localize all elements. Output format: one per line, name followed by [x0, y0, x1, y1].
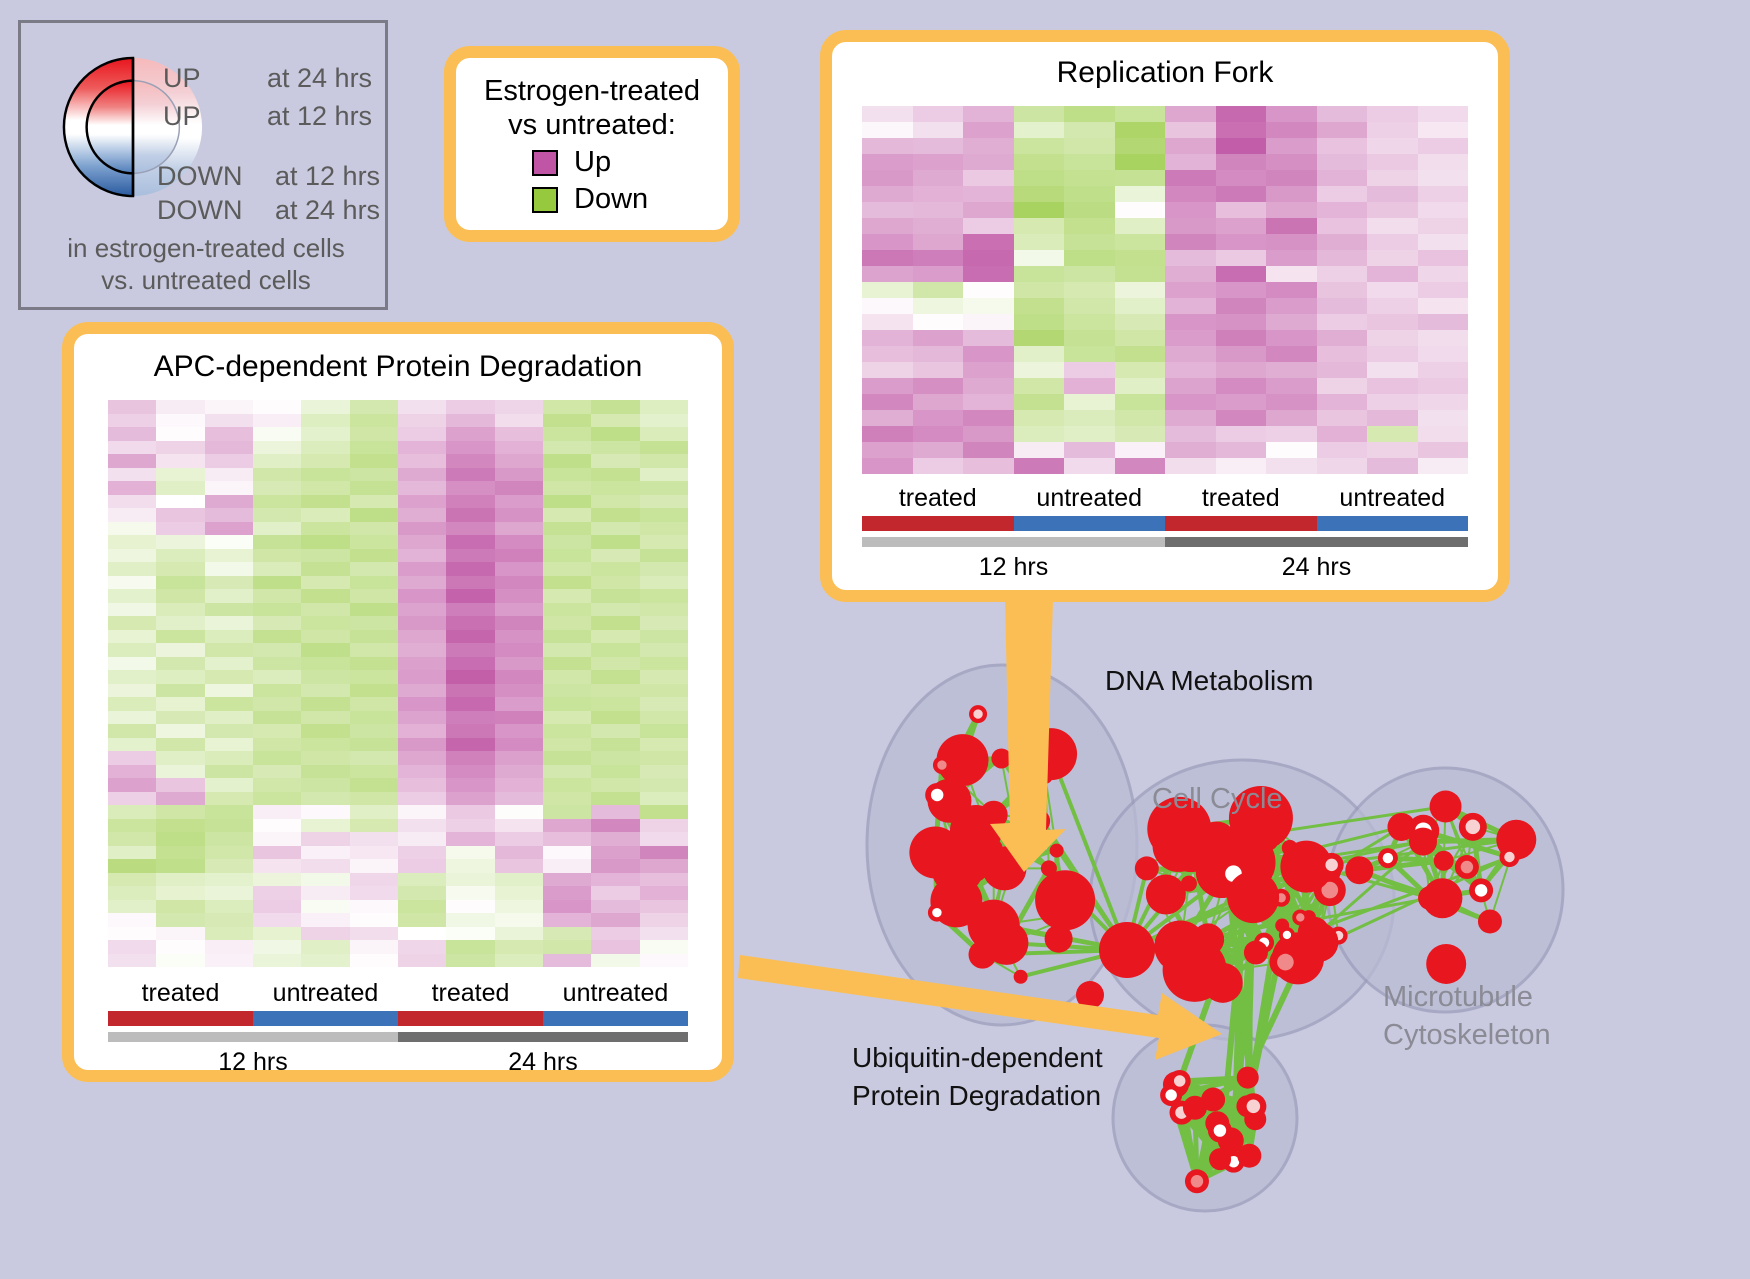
heatmap-cell	[1418, 218, 1469, 234]
heatmap-cell	[591, 468, 639, 482]
heatmap-cell	[495, 414, 543, 428]
heatmap-cell	[913, 426, 964, 442]
heatmap-cell	[1216, 298, 1267, 314]
heatmap-cell	[1165, 186, 1216, 202]
heatmap-cell	[1064, 234, 1115, 250]
heatmap-cell	[862, 442, 913, 458]
heatmap-cell	[862, 298, 913, 314]
heatmap-cell	[108, 846, 156, 860]
heatmap-cell	[446, 886, 494, 900]
heatmap-cell	[205, 954, 253, 968]
heatmap-cell	[253, 792, 301, 806]
heatmap-cell	[398, 940, 446, 954]
heatmap-cell	[1165, 314, 1216, 330]
heatmap-cell	[205, 684, 253, 698]
heatmap-cell	[862, 330, 913, 346]
network-node[interactable]	[1237, 1144, 1261, 1168]
heatmap-cell	[543, 495, 591, 509]
heatmap-cell	[1418, 250, 1469, 266]
heatmap-cell	[495, 724, 543, 738]
heatmap-cell	[1418, 234, 1469, 250]
heatmap-cell	[1064, 394, 1115, 410]
legend-item-down: Down	[532, 183, 728, 216]
heatmap-cell	[1014, 442, 1065, 458]
heatmap-cell	[350, 846, 398, 860]
rep-bar-untreated-24	[1317, 516, 1469, 531]
heatmap-cell	[1367, 138, 1418, 154]
heatmap-cell	[1266, 362, 1317, 378]
heatmap-cell	[398, 697, 446, 711]
heatmap-cell	[350, 900, 398, 914]
heatmap-cell	[543, 765, 591, 779]
heatmap-cell	[1115, 426, 1166, 442]
heatmap-cell	[1115, 298, 1166, 314]
heatmap-cell	[108, 508, 156, 522]
network-node[interactable]	[1203, 963, 1243, 1003]
heatmap-cell	[1064, 282, 1115, 298]
heatmap-cell	[495, 535, 543, 549]
heatmap-cell	[446, 738, 494, 752]
heatmap-cell	[350, 414, 398, 428]
heatmap-cell	[1064, 250, 1115, 266]
heatmap-cell	[862, 202, 913, 218]
heatmap-cell	[591, 616, 639, 630]
heatmap-cell	[446, 427, 494, 441]
heatmap-cell	[1115, 346, 1166, 362]
heatmap-cell	[1367, 346, 1418, 362]
heatmap-cell	[591, 576, 639, 590]
heatmap-cell	[640, 954, 688, 968]
heatmap-cell	[205, 603, 253, 617]
heatmap-cell	[301, 751, 349, 765]
heatmap-cell	[1367, 202, 1418, 218]
heatmap-cell	[1216, 314, 1267, 330]
heatmap-cell	[205, 765, 253, 779]
expression-color-key-box: UP at 24 hrs UP at 12 hrs DOWN at 12 hrs…	[18, 20, 388, 310]
heatmap-cell	[1266, 186, 1317, 202]
heatmap-cell	[1216, 218, 1267, 234]
network-node[interactable]	[1035, 870, 1095, 930]
heatmap-cell	[253, 670, 301, 684]
heatmap-cell	[205, 400, 253, 414]
heatmap-cell	[398, 508, 446, 522]
heatmap-cell	[253, 576, 301, 590]
heatmap-cell	[301, 441, 349, 455]
heatmap-cell	[495, 873, 543, 887]
heatmap-cell	[963, 314, 1014, 330]
legend-title: Estrogen-treated vs untreated:	[456, 74, 728, 142]
network-node[interactable]	[991, 748, 1011, 768]
heatmap-cell	[543, 576, 591, 590]
heatmap-cell	[446, 751, 494, 765]
heatmap-cell	[1418, 362, 1469, 378]
heatmap-cell	[913, 106, 964, 122]
heatmap-cell	[1216, 122, 1267, 138]
heatmap-cell	[963, 378, 1014, 394]
heatmap-cell	[1367, 330, 1418, 346]
heatmap-cell	[350, 913, 398, 927]
heatmap-cell	[301, 549, 349, 563]
network-node[interactable]	[1345, 856, 1373, 884]
heatmap-cell	[398, 589, 446, 603]
heatmap-cell	[108, 576, 156, 590]
heatmap-cell	[253, 589, 301, 603]
heatmap-cell	[1014, 426, 1065, 442]
heatmap-cell	[1317, 138, 1368, 154]
heatmap-cell	[495, 711, 543, 725]
heatmap-cell	[108, 549, 156, 563]
heatmap-cell	[591, 859, 639, 873]
heatmap-cell	[1216, 410, 1267, 426]
heatmap-cell	[1266, 250, 1317, 266]
heatmap-cell	[1064, 362, 1115, 378]
heatmap-cell	[543, 562, 591, 576]
network-node-core	[1277, 954, 1294, 971]
heatmap-cell	[350, 643, 398, 657]
heatmap-cell	[156, 832, 204, 846]
legend-title-line2: vs untreated:	[456, 108, 728, 142]
heatmap-cell	[205, 886, 253, 900]
heatmap-cell	[253, 738, 301, 752]
heatmap-cell	[1418, 378, 1469, 394]
heatmap-cell	[446, 589, 494, 603]
heatmap-cell	[108, 427, 156, 441]
heatmap-cell	[301, 792, 349, 806]
heatmap-cell	[1165, 378, 1216, 394]
heatmap-cell	[963, 362, 1014, 378]
apc-bar-12hrs	[108, 1032, 398, 1042]
heatmap-cell	[1266, 138, 1317, 154]
heatmap-cell	[913, 378, 964, 394]
heatmap-cell	[301, 427, 349, 441]
network-node[interactable]	[1037, 768, 1053, 784]
heatmap-cell	[446, 697, 494, 711]
network-node-core	[1466, 820, 1481, 835]
heatmap-cell	[543, 832, 591, 846]
heatmap-cell	[1266, 298, 1317, 314]
heatmap-cell	[253, 900, 301, 914]
network-node-core	[973, 709, 982, 718]
replication-fork-title: Replication Fork	[862, 56, 1468, 90]
heatmap-cell	[1064, 378, 1115, 394]
heatmap-cell	[495, 441, 543, 455]
heatmap-cell	[913, 346, 964, 362]
network-node[interactable]	[1227, 871, 1279, 923]
heatmap-cell	[543, 873, 591, 887]
heatmap-cell	[156, 495, 204, 509]
heatmap-cell	[350, 522, 398, 536]
heatmap-cell	[1266, 394, 1317, 410]
heatmap-cell	[446, 819, 494, 833]
network-node[interactable]	[1045, 925, 1073, 953]
heatmap-cell	[640, 792, 688, 806]
heatmap-cell	[591, 657, 639, 671]
network-node[interactable]	[1153, 820, 1205, 872]
heatmap-cell	[301, 589, 349, 603]
network-node[interactable]	[1426, 944, 1466, 984]
heatmap-cell	[1266, 122, 1317, 138]
heatmap-cell	[543, 481, 591, 495]
heatmap-cell	[862, 458, 913, 474]
heatmap-cell	[640, 819, 688, 833]
heatmap-cell	[350, 778, 398, 792]
heatmap-cell	[301, 819, 349, 833]
heatmap-cell	[591, 495, 639, 509]
heatmap-cell	[350, 468, 398, 482]
heatmap-cell	[446, 711, 494, 725]
heatmap-cell	[963, 154, 1014, 170]
heatmap-cell	[350, 454, 398, 468]
heatmap-cell	[1064, 106, 1115, 122]
key-row-3-state: DOWN	[157, 195, 242, 226]
heatmap-cell	[1115, 362, 1166, 378]
apc-degradation-title: APC-dependent Protein Degradation	[108, 350, 688, 384]
network-node[interactable]	[1434, 851, 1454, 871]
network-node[interactable]	[1183, 1096, 1207, 1120]
heatmap-cell	[108, 900, 156, 914]
updown-legend-panel: Estrogen-treated vs untreated: Up Down	[444, 46, 740, 242]
heatmap-cell	[543, 697, 591, 711]
heatmap-cell	[1014, 154, 1065, 170]
heatmap-cell	[156, 819, 204, 833]
heatmap-cell	[398, 832, 446, 846]
heatmap-cell	[398, 927, 446, 941]
heatmap-cell	[350, 792, 398, 806]
heatmap-cell	[205, 697, 253, 711]
heatmap-cell	[1216, 442, 1267, 458]
heatmap-cell	[640, 441, 688, 455]
heatmap-cell	[495, 576, 543, 590]
heatmap-cell	[963, 250, 1014, 266]
heatmap-cell	[591, 927, 639, 941]
heatmap-cell	[301, 954, 349, 968]
network-node[interactable]	[1422, 878, 1462, 918]
heatmap-cell	[913, 410, 964, 426]
heatmap-cell	[301, 630, 349, 644]
legend-title-line1: Estrogen-treated	[456, 74, 728, 108]
heatmap-cell	[640, 684, 688, 698]
key-row-2-state: DOWN	[157, 161, 242, 192]
heatmap-cell	[1317, 330, 1368, 346]
heatmap-cell	[446, 468, 494, 482]
heatmap-cell	[108, 792, 156, 806]
heatmap-cell	[1418, 122, 1469, 138]
heatmap-cell	[1014, 266, 1065, 282]
heatmap-cell	[156, 684, 204, 698]
heatmap-cell	[1266, 106, 1317, 122]
heatmap-cell	[398, 535, 446, 549]
heatmap-cell	[862, 426, 913, 442]
heatmap-cell	[862, 346, 913, 362]
heatmap-cell	[543, 846, 591, 860]
heatmap-cell	[591, 832, 639, 846]
heatmap-cell	[1216, 186, 1267, 202]
network-node[interactable]	[1298, 922, 1338, 962]
network-node-core	[937, 760, 946, 769]
heatmap-cell	[1216, 458, 1267, 474]
heatmap-cell	[1115, 170, 1166, 186]
heatmap-cell	[1014, 394, 1065, 410]
network-node[interactable]	[1430, 790, 1462, 822]
heatmap-cell	[156, 414, 204, 428]
network-node[interactable]	[1146, 874, 1186, 914]
heatmap-cell	[543, 913, 591, 927]
network-node-core	[1214, 1124, 1226, 1136]
heatmap-cell	[1216, 170, 1267, 186]
heatmap-cell	[253, 616, 301, 630]
heatmap-cell	[495, 670, 543, 684]
heatmap-cell	[963, 202, 1014, 218]
network-node[interactable]	[1014, 970, 1028, 984]
heatmap-cell	[156, 954, 204, 968]
heatmap-cell	[1014, 282, 1065, 298]
heatmap-cell	[862, 410, 913, 426]
heatmap-cell	[1115, 154, 1166, 170]
network-node[interactable]	[1387, 813, 1415, 841]
heatmap-cell	[301, 684, 349, 698]
heatmap-cell	[963, 458, 1014, 474]
heatmap-cell	[1317, 122, 1368, 138]
heatmap-cell	[253, 805, 301, 819]
heatmap-cell	[253, 535, 301, 549]
heatmap-cell	[1266, 170, 1317, 186]
heatmap-cell	[398, 603, 446, 617]
heatmap-cell	[1418, 314, 1469, 330]
heatmap-cell	[1266, 330, 1317, 346]
apc-bar-untreated-12	[253, 1011, 398, 1026]
heatmap-cell	[1367, 250, 1418, 266]
heatmap-cell	[446, 630, 494, 644]
heatmap-cell	[1216, 234, 1267, 250]
heatmap-cell	[1266, 378, 1317, 394]
heatmap-cell	[1418, 330, 1469, 346]
heatmap-cell	[640, 400, 688, 414]
heatmap-cell	[495, 427, 543, 441]
heatmap-cell	[640, 805, 688, 819]
rep-time-bar	[862, 537, 1468, 547]
heatmap-cell	[963, 330, 1014, 346]
heatmap-cell	[495, 940, 543, 954]
heatmap-cell	[108, 927, 156, 941]
heatmap-cell	[591, 765, 639, 779]
heatmap-cell	[591, 886, 639, 900]
heatmap-cell	[1266, 202, 1317, 218]
heatmap-cell	[543, 859, 591, 873]
heatmap-cell	[543, 778, 591, 792]
heatmap-cell	[1317, 394, 1368, 410]
heatmap-cell	[1165, 426, 1216, 442]
heatmap-cell	[591, 751, 639, 765]
heatmap-cell	[398, 643, 446, 657]
heatmap-cell	[1014, 378, 1065, 394]
network-node[interactable]	[1050, 844, 1064, 858]
heatmap-cell	[1014, 314, 1065, 330]
heatmap-cell	[862, 138, 913, 154]
heatmap-cell	[640, 454, 688, 468]
network-node[interactable]	[1041, 860, 1057, 876]
heatmap-cell	[253, 927, 301, 941]
heatmap-cell	[205, 576, 253, 590]
heatmap-cell	[495, 657, 543, 671]
heatmap-cell	[543, 724, 591, 738]
heatmap-cell	[1115, 330, 1166, 346]
key-row-0-state: UP	[163, 63, 201, 94]
network-node[interactable]	[969, 941, 997, 969]
heatmap-cell	[1216, 330, 1267, 346]
heatmap-cell	[446, 481, 494, 495]
heatmap-cell	[253, 454, 301, 468]
heatmap-cell	[495, 522, 543, 536]
heatmap-cell	[1367, 234, 1418, 250]
heatmap-cell	[1418, 266, 1469, 282]
heatmap-cell	[350, 562, 398, 576]
heatmap-cell	[350, 576, 398, 590]
heatmap-cell	[205, 630, 253, 644]
heatmap-cell	[253, 427, 301, 441]
heatmap-cell	[301, 886, 349, 900]
heatmap-cell	[1014, 106, 1065, 122]
cluster-label-cell-cycle: Cell Cycle	[1152, 783, 1283, 816]
heatmap-cell	[205, 441, 253, 455]
heatmap-cell	[398, 900, 446, 914]
heatmap-cell	[301, 454, 349, 468]
heatmap-cell	[640, 886, 688, 900]
heatmap-cell	[253, 711, 301, 725]
heatmap-cell	[1064, 298, 1115, 314]
apc-bar-24hrs	[398, 1032, 688, 1042]
network-node-core	[1165, 1089, 1176, 1100]
network-node[interactable]	[1244, 941, 1268, 965]
heatmap-cell	[108, 940, 156, 954]
heatmap-cell	[1165, 154, 1216, 170]
heatmap-cell	[495, 643, 543, 657]
heatmap-cell	[495, 859, 543, 873]
heatmap-cell	[1317, 266, 1368, 282]
network-node[interactable]	[1099, 922, 1155, 978]
heatmap-cell	[446, 913, 494, 927]
heatmap-cell	[1115, 106, 1166, 122]
heatmap-cell	[1115, 250, 1166, 266]
heatmap-cell	[1165, 298, 1216, 314]
network-node[interactable]	[1192, 923, 1224, 955]
heatmap-cell	[350, 859, 398, 873]
network-node[interactable]	[1209, 1148, 1231, 1170]
heatmap-cell	[543, 603, 591, 617]
heatmap-cell	[1064, 154, 1115, 170]
network-node[interactable]	[1135, 856, 1159, 880]
heatmap-cell	[1165, 202, 1216, 218]
heatmap-cell	[963, 410, 1014, 426]
network-node[interactable]	[909, 827, 961, 879]
heatmap-cell	[495, 549, 543, 563]
heatmap-cell	[156, 778, 204, 792]
heatmap-cell	[350, 886, 398, 900]
network-node[interactable]	[1076, 981, 1104, 1009]
heatmap-cell	[1418, 154, 1469, 170]
network-node[interactable]	[1237, 1067, 1259, 1089]
heatmap-cell	[495, 508, 543, 522]
heatmap-cell	[1014, 410, 1065, 426]
network-node[interactable]	[1478, 909, 1502, 933]
heatmap-cell	[156, 859, 204, 873]
heatmap-cell	[1266, 346, 1317, 362]
heatmap-cell	[1317, 346, 1368, 362]
heatmap-cell	[1367, 458, 1418, 474]
heatmap-cell	[446, 535, 494, 549]
heatmap-cell	[1165, 362, 1216, 378]
apc-condition-1: untreated	[253, 979, 398, 1008]
heatmap-cell	[108, 711, 156, 725]
